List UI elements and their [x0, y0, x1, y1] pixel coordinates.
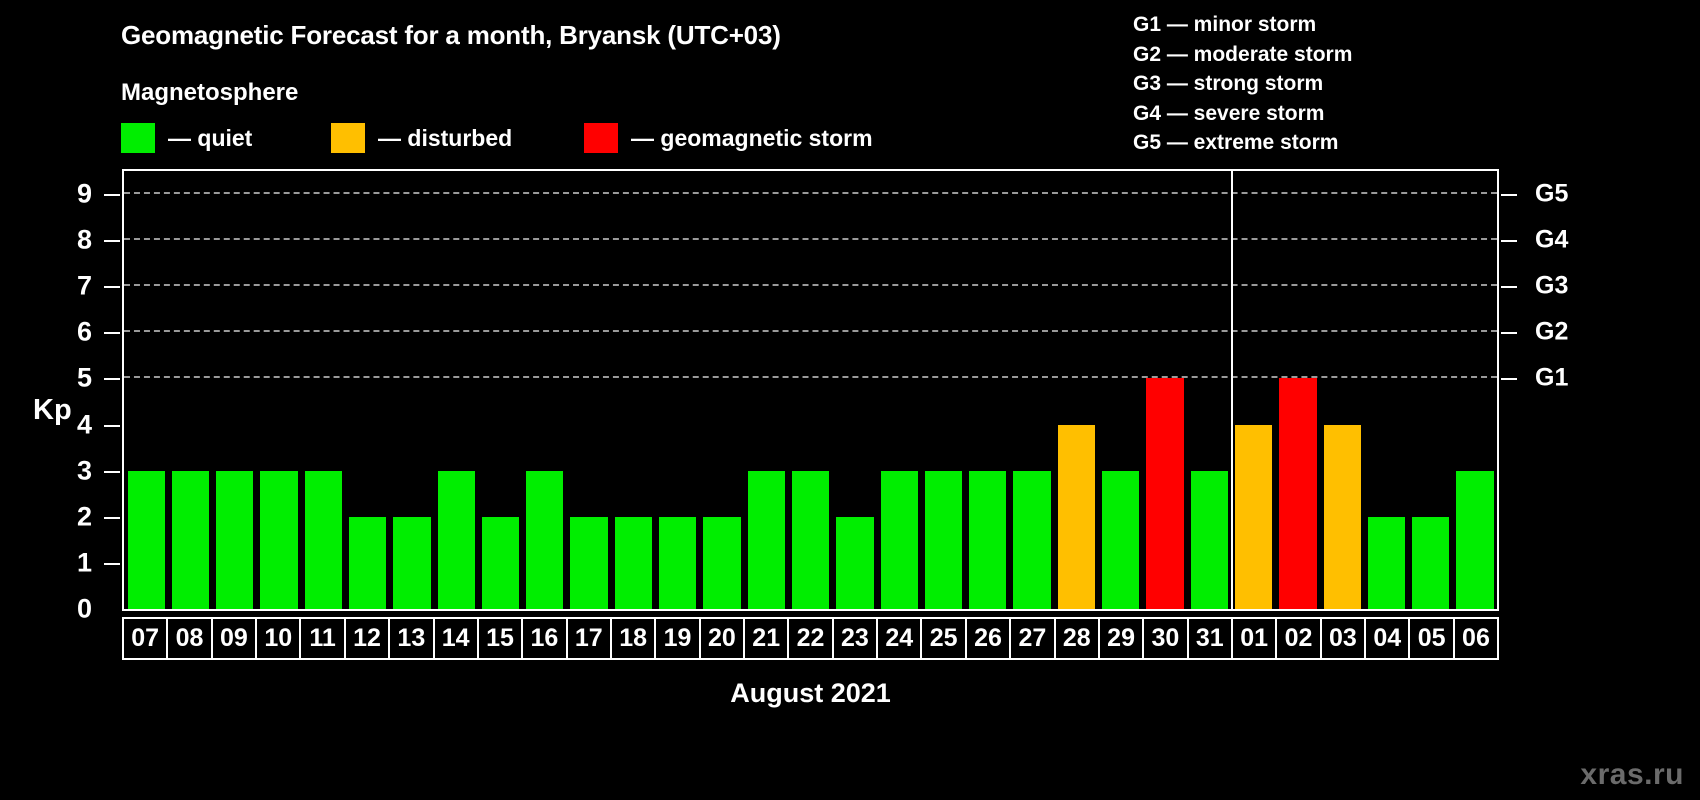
g-tick-mark-G4 — [1501, 240, 1517, 242]
geomagnetic-storm-legend-swatch-icon — [584, 123, 618, 153]
date-cell-17: 17 — [566, 617, 612, 660]
date-cell-31: 31 — [1187, 617, 1233, 660]
geomagnetic-storm-legend: — geomagnetic storm — [584, 122, 873, 154]
site-watermark: xras.ru — [1580, 758, 1684, 792]
forecast-divider-line — [1231, 171, 1233, 609]
quiet-legend-swatch-icon — [121, 123, 155, 153]
bar-slot — [611, 171, 655, 609]
bar-02 — [1279, 378, 1316, 609]
bar-slot — [656, 171, 700, 609]
bar-slot — [921, 171, 965, 609]
date-cell-30: 30 — [1142, 617, 1188, 660]
bar-slot — [390, 171, 434, 609]
y-tick-label-2: 2 — [77, 501, 92, 532]
bar-09 — [216, 471, 253, 609]
bar-31 — [1191, 471, 1228, 609]
y-tick-mark-5 — [104, 378, 120, 380]
bar-12 — [349, 517, 386, 609]
disturbed-legend: — disturbed — [331, 122, 512, 154]
bar-slot — [478, 171, 522, 609]
y-tick-mark-6 — [104, 332, 120, 334]
date-cell-12: 12 — [344, 617, 390, 660]
bar-15 — [482, 517, 519, 609]
g-tick-mark-G3 — [1501, 286, 1517, 288]
bar-08 — [172, 471, 209, 609]
bar-10 — [260, 471, 297, 609]
bar-22 — [792, 471, 829, 609]
g-scale-legend: G1 — minor stormG2 — moderate stormG3 — … — [1133, 10, 1352, 158]
g-legend-item-1: G1 — minor storm — [1133, 10, 1352, 40]
disturbed-legend-swatch-icon — [331, 123, 365, 153]
geomagnetic-storm-legend-text: — geomagnetic storm — [631, 125, 873, 152]
date-cell-08: 08 — [166, 617, 212, 660]
y-tick-label-3: 3 — [77, 455, 92, 486]
magnetosphere-heading: Magnetosphere — [121, 79, 298, 107]
geomagnetic-forecast-chart: Geomagnetic Forecast for a month, Bryans… — [0, 0, 1700, 800]
x-axis-label: August 2021 — [122, 678, 1499, 709]
g-axis-label-G1: G1 — [1535, 364, 1568, 393]
bar-slot — [567, 171, 611, 609]
plot-area — [122, 169, 1499, 611]
page-title: Geomagnetic Forecast for a month, Bryans… — [121, 20, 781, 51]
bar-slot — [301, 171, 345, 609]
bar-28 — [1058, 425, 1095, 609]
bar-25 — [925, 471, 962, 609]
bar-16 — [526, 471, 563, 609]
date-cell-04: 04 — [1364, 617, 1410, 660]
bar-slot — [966, 171, 1010, 609]
bar-slot — [434, 171, 478, 609]
g-tick-mark-G5 — [1501, 194, 1517, 196]
bar-slot — [833, 171, 877, 609]
y-tick-mark-1 — [104, 563, 120, 565]
bar-11 — [305, 471, 342, 609]
bar-slot — [213, 171, 257, 609]
y-tick-label-9: 9 — [77, 179, 92, 210]
y-tick-mark-2 — [104, 517, 120, 519]
g-legend-item-5: G5 — extreme storm — [1133, 128, 1352, 158]
bar-06 — [1456, 471, 1493, 609]
date-cell-02: 02 — [1275, 617, 1321, 660]
bar-04 — [1368, 517, 1405, 609]
bar-14 — [438, 471, 475, 609]
y-tick-label-1: 1 — [77, 547, 92, 578]
g-scale-axis: G5G4G3G2G1 — [1499, 169, 1699, 611]
bar-slot — [523, 171, 567, 609]
date-cell-15: 15 — [477, 617, 523, 660]
date-cell-27: 27 — [1009, 617, 1055, 660]
bar-slot — [877, 171, 921, 609]
g-legend-item-4: G4 — severe storm — [1133, 99, 1352, 129]
g-axis-label-G3: G3 — [1535, 272, 1568, 301]
date-cell-01: 01 — [1231, 617, 1277, 660]
date-cell-19: 19 — [654, 617, 700, 660]
bar-series — [124, 171, 1497, 609]
bar-18 — [615, 517, 652, 609]
bar-27 — [1013, 471, 1050, 609]
plot-inner — [124, 171, 1497, 609]
date-cell-18: 18 — [610, 617, 656, 660]
bar-slot — [257, 171, 301, 609]
bar-slot — [744, 171, 788, 609]
bar-slot — [1320, 171, 1364, 609]
y-tick-mark-8 — [104, 240, 120, 242]
y-tick-mark-3 — [104, 471, 120, 473]
bar-20 — [703, 517, 740, 609]
bar-05 — [1412, 517, 1449, 609]
bar-slot — [345, 171, 389, 609]
y-axis-label: Kp — [33, 394, 72, 427]
date-cell-25: 25 — [920, 617, 966, 660]
date-cell-28: 28 — [1054, 617, 1100, 660]
bar-29 — [1102, 471, 1139, 609]
disturbed-legend-text: — disturbed — [378, 125, 512, 152]
date-cell-29: 29 — [1098, 617, 1144, 660]
g-tick-mark-G1 — [1501, 378, 1517, 380]
bar-13 — [393, 517, 430, 609]
g-axis-label-G2: G2 — [1535, 318, 1568, 347]
date-cell-21: 21 — [743, 617, 789, 660]
bar-slot — [1453, 171, 1497, 609]
date-cell-20: 20 — [699, 617, 745, 660]
bar-slot — [124, 171, 168, 609]
bar-slot — [1010, 171, 1054, 609]
y-tick-label-7: 7 — [77, 271, 92, 302]
date-cell-14: 14 — [433, 617, 479, 660]
date-cell-03: 03 — [1320, 617, 1366, 660]
bar-21 — [748, 471, 785, 609]
y-tick-mark-7 — [104, 286, 120, 288]
g-axis-label-G5: G5 — [1535, 180, 1568, 209]
bar-slot — [1276, 171, 1320, 609]
date-cell-13: 13 — [388, 617, 434, 660]
bar-slot — [168, 171, 212, 609]
bar-slot — [1364, 171, 1408, 609]
bar-slot — [1409, 171, 1453, 609]
bar-23 — [836, 517, 873, 609]
bar-slot — [1187, 171, 1231, 609]
bar-slot — [1231, 171, 1275, 609]
date-cell-11: 11 — [299, 617, 345, 660]
y-tick-label-5: 5 — [77, 363, 92, 394]
date-cell-22: 22 — [787, 617, 833, 660]
bar-17 — [570, 517, 607, 609]
date-cell-16: 16 — [521, 617, 567, 660]
date-cell-26: 26 — [965, 617, 1011, 660]
bar-slot — [1099, 171, 1143, 609]
date-axis: 0708091011121314151617181920212223242526… — [122, 617, 1499, 660]
bar-slot — [788, 171, 832, 609]
g-tick-mark-G2 — [1501, 332, 1517, 334]
bar-24 — [881, 471, 918, 609]
date-cell-07: 07 — [122, 617, 168, 660]
bar-slot — [700, 171, 744, 609]
bar-19 — [659, 517, 696, 609]
bar-07 — [128, 471, 165, 609]
date-cell-05: 05 — [1408, 617, 1454, 660]
y-tick-label-0: 0 — [77, 594, 92, 625]
date-cell-06: 06 — [1453, 617, 1499, 660]
y-tick-mark-9 — [104, 194, 120, 196]
bar-01 — [1235, 425, 1272, 609]
date-cell-10: 10 — [255, 617, 301, 660]
y-tick-label-8: 8 — [77, 225, 92, 256]
y-axis: 9876543210 — [0, 169, 122, 611]
g-legend-item-2: G2 — moderate storm — [1133, 40, 1352, 70]
date-cell-23: 23 — [832, 617, 878, 660]
bar-26 — [969, 471, 1006, 609]
y-tick-mark-4 — [104, 425, 120, 427]
y-tick-label-6: 6 — [77, 317, 92, 348]
date-cell-24: 24 — [876, 617, 922, 660]
y-tick-label-4: 4 — [77, 409, 92, 440]
bar-30 — [1146, 378, 1183, 609]
g-axis-label-G4: G4 — [1535, 226, 1568, 255]
bar-slot — [1143, 171, 1187, 609]
bar-slot — [1054, 171, 1098, 609]
g-legend-item-3: G3 — strong storm — [1133, 69, 1352, 99]
quiet-legend: — quiet — [121, 122, 252, 154]
quiet-legend-text: — quiet — [168, 125, 252, 152]
date-cell-09: 09 — [211, 617, 257, 660]
bar-03 — [1324, 425, 1361, 609]
